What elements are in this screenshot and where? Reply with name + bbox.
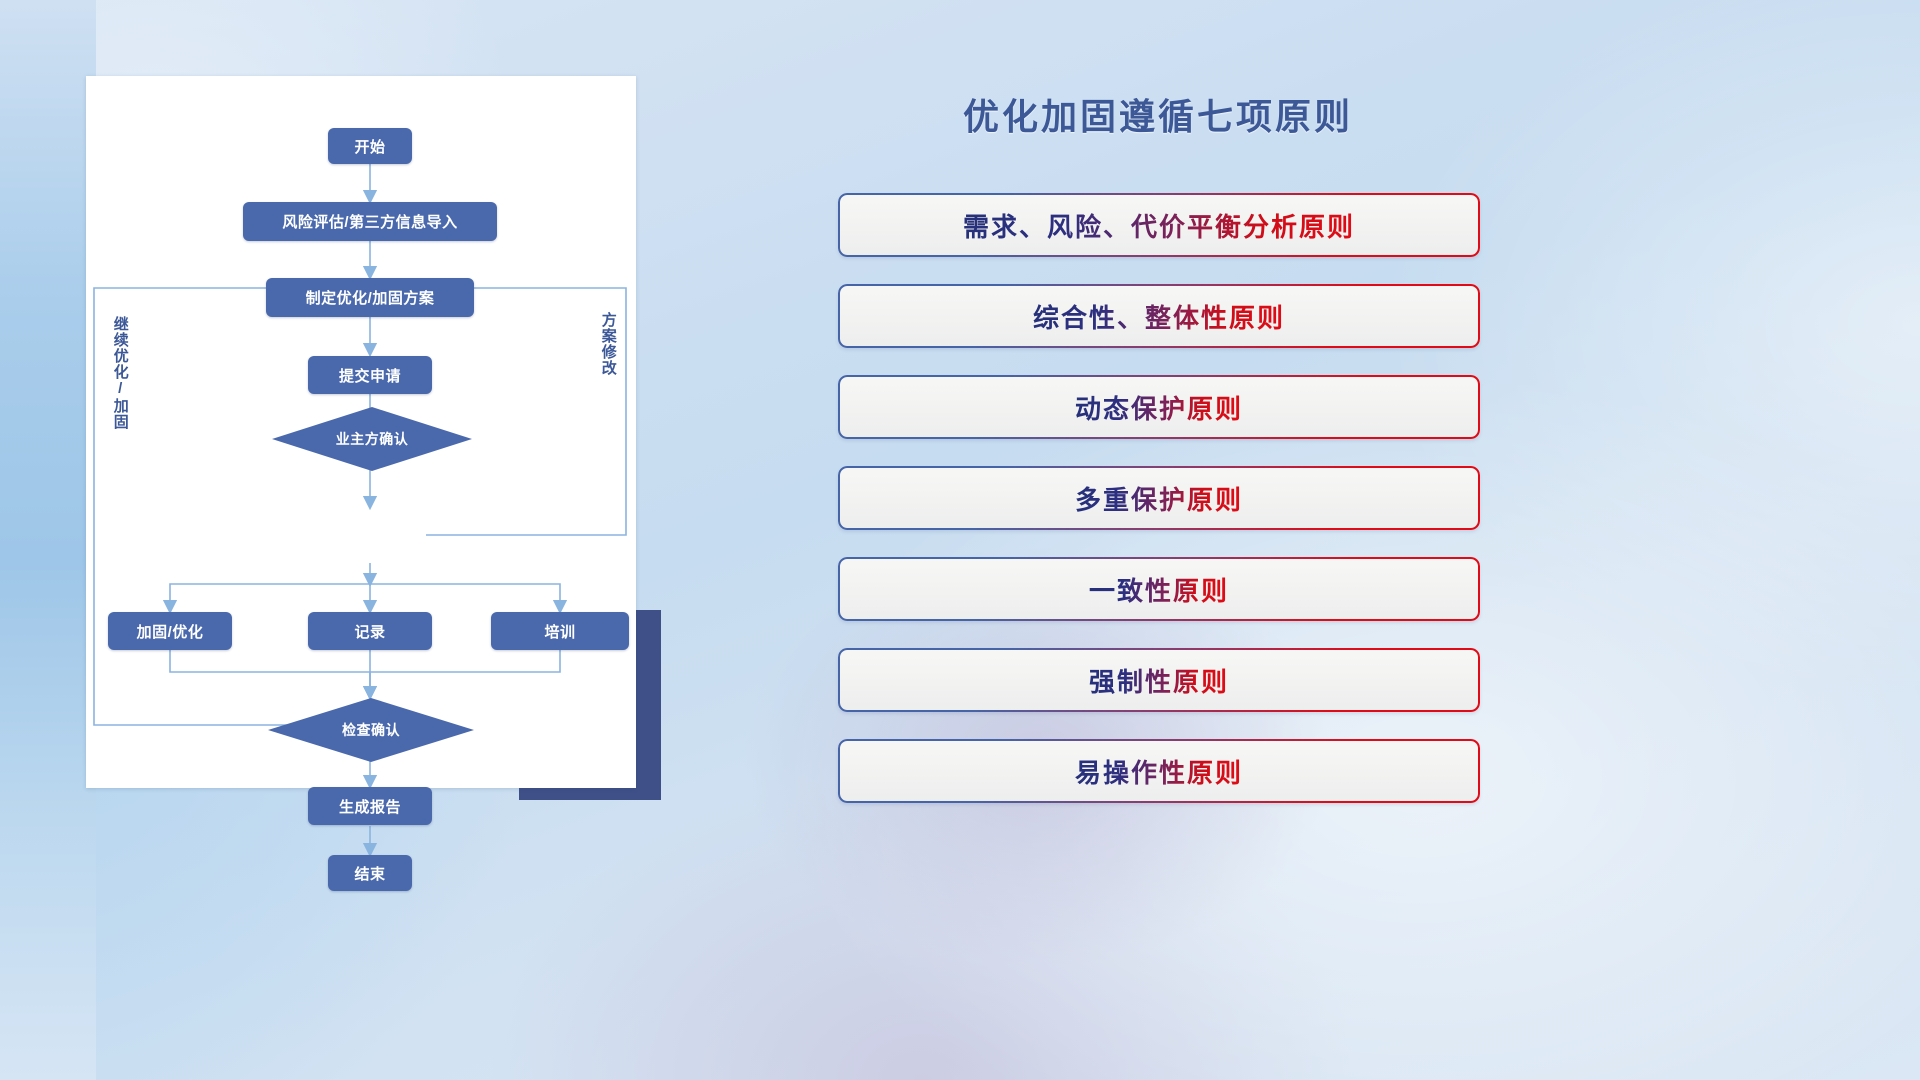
flow-node-submit-application[interactable]: 提交申请 [308,356,432,394]
flow-node-label: 结束 [354,863,385,884]
principle-label: 多重保护原则 [1075,480,1243,517]
flow-node-label: 记录 [354,621,385,642]
principle-item[interactable]: 易操作性原则 [838,739,1480,803]
principle-item[interactable]: 一致性原则 [838,557,1480,621]
flow-node-record[interactable]: 记录 [308,612,432,650]
principle-label: 动态保护原则 [1075,389,1243,426]
principle-item[interactable]: 综合性、整体性原则 [838,284,1480,348]
flow-edge-label-plan-revision: 方案修改 [600,312,616,412]
principle-item[interactable]: 强制性原则 [838,648,1480,712]
flow-node-label: 制定优化/加固方案 [306,287,435,308]
right-panel-title: 优化加固遵循七项原则 [838,88,1478,140]
principle-label: 需求、风险、代价平衡分析原则 [963,207,1355,244]
flow-node-plan[interactable]: 制定优化/加固方案 [266,278,474,317]
flow-node-label: 检查确认 [268,698,474,762]
flowchart: 开始 风险评估/第三方信息导入 制定优化/加固方案 提交申请 业主方确认 加固/… [86,76,636,788]
flow-edge-label-continue-optimize: 继续优化/加固 [112,316,128,456]
principle-label: 综合性、整体性原则 [1033,298,1285,335]
principle-item[interactable]: 多重保护原则 [838,466,1480,530]
principle-label: 易操作性原则 [1075,753,1243,790]
flow-node-label: 业主方确认 [272,407,472,471]
principle-item[interactable]: 动态保护原则 [838,375,1480,439]
flow-node-label: 风险评估/第三方信息导入 [282,211,457,232]
flow-node-generate-report[interactable]: 生成报告 [308,787,432,825]
flow-node-start[interactable]: 开始 [328,128,412,164]
flow-node-label: 培训 [544,621,575,642]
flow-node-owner-confirm[interactable]: 业主方确认 [272,407,472,471]
flow-node-reinforce[interactable]: 加固/优化 [108,612,232,650]
flow-node-label: 加固/优化 [137,621,204,642]
flow-node-label: 开始 [354,136,385,157]
flow-node-risk-assessment[interactable]: 风险评估/第三方信息导入 [243,202,497,241]
background-left-strip [0,0,96,1080]
flow-node-check-confirm[interactable]: 检查确认 [268,698,474,762]
principle-item[interactable]: 需求、风险、代价平衡分析原则 [838,193,1480,257]
flow-node-end[interactable]: 结束 [328,855,412,891]
flow-node-label: 生成报告 [339,796,401,817]
flow-node-training[interactable]: 培训 [491,612,629,650]
flow-node-label: 提交申请 [339,365,401,386]
principle-label: 强制性原则 [1089,662,1229,699]
principle-label: 一致性原则 [1089,571,1229,608]
principles-list: 需求、风险、代价平衡分析原则 综合性、整体性原则 动态保护原则 多重保护原则 一… [838,193,1480,830]
